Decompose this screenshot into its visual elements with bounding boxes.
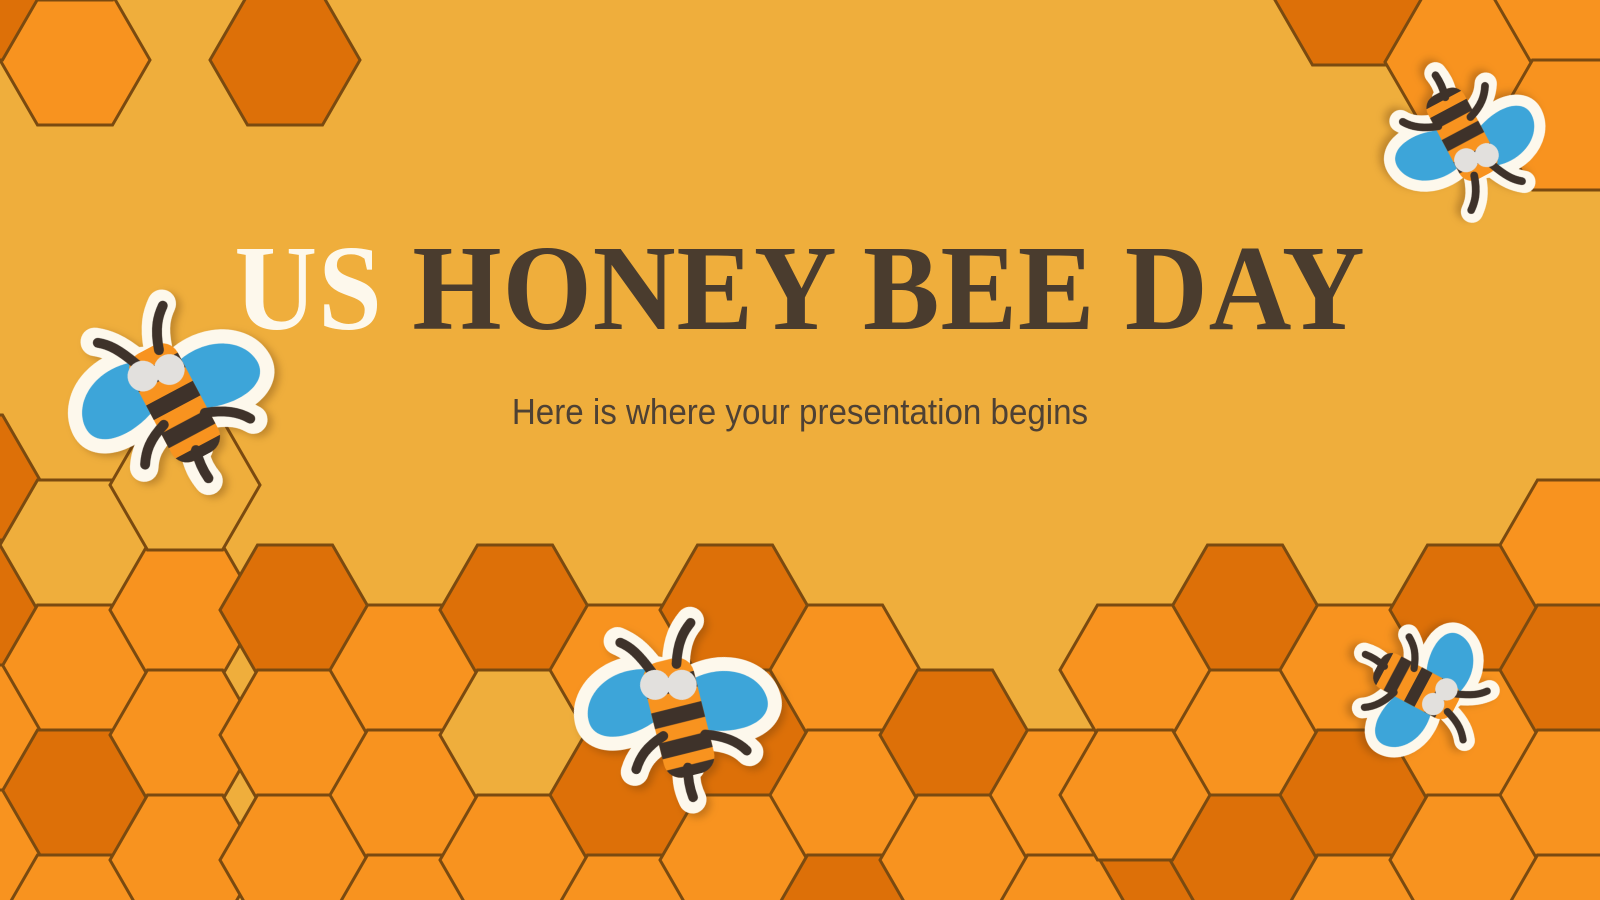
bee-top-left-icon <box>23 249 321 547</box>
bee-center-icon <box>547 582 808 843</box>
bee-decoration-layer <box>0 0 1600 900</box>
bee-bottom-right-icon <box>1312 580 1528 796</box>
presentation-slide: US HONEY BEE DAY Here is where your pres… <box>0 0 1600 900</box>
bee-top-right-icon <box>1348 22 1581 255</box>
